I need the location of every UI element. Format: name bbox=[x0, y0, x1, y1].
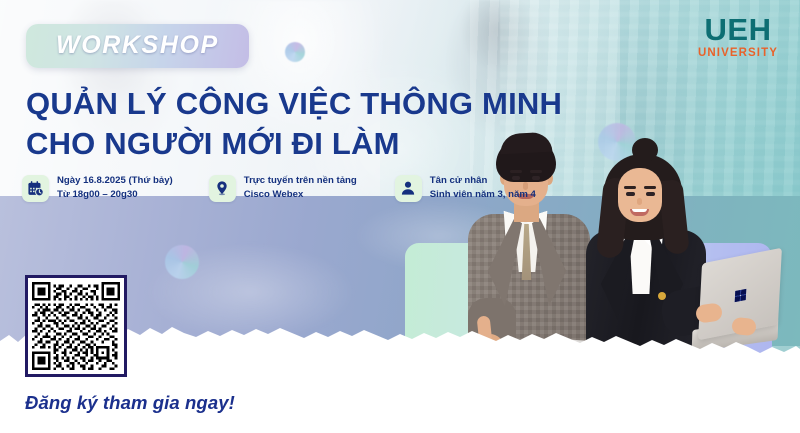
logo-sub-text: UNIVERSITY bbox=[698, 48, 778, 60]
register-cta-text[interactable]: Đăng ký tham gia ngay! bbox=[25, 392, 235, 414]
info-platform-line-2: Cisco Webex bbox=[244, 188, 357, 202]
location-pin-icon bbox=[209, 175, 236, 202]
ueh-logo: UEH UNIVERSITY bbox=[698, 14, 778, 60]
info-item-audience-text: Tân cử nhân Sinh viên năm 3, năm 4 bbox=[430, 174, 536, 203]
headline-line-2: CHO NGƯỜI MỚI ĐI LÀM bbox=[26, 124, 562, 164]
info-item-date: Ngày 16.8.2025 (Thứ bảy) Từ 18g00 – 20g3… bbox=[22, 174, 173, 203]
decorative-sphere-icon bbox=[285, 42, 305, 62]
info-item-audience: Tân cử nhân Sinh viên năm 3, năm 4 bbox=[395, 174, 536, 203]
person-icon bbox=[395, 175, 422, 202]
decorative-sphere-icon bbox=[165, 245, 199, 279]
info-audience-line-1: Tân cử nhân bbox=[430, 174, 536, 188]
workshop-banner: UEH UNIVERSITY WORKSHOP QUẢN LÝ CÔNG VIỆ… bbox=[0, 0, 800, 433]
info-audience-line-2: Sinh viên năm 3, năm 4 bbox=[430, 188, 536, 202]
info-platform-line-1: Trực tuyến trên nền tảng bbox=[244, 174, 357, 188]
info-date-line-2: Từ 18g00 – 20g30 bbox=[57, 188, 173, 202]
calendar-clock-icon bbox=[22, 175, 49, 202]
headline-line-1: QUẢN LÝ CÔNG VIỆC THÔNG MINH bbox=[26, 84, 562, 124]
event-info-row: Ngày 16.8.2025 (Thứ bảy) Từ 18g00 – 20g3… bbox=[22, 174, 536, 203]
logo-main-text: UEH bbox=[698, 14, 778, 45]
info-item-date-text: Ngày 16.8.2025 (Thứ bảy) Từ 18g00 – 20g3… bbox=[57, 174, 173, 203]
workshop-badge: WORKSHOP bbox=[26, 24, 249, 68]
page-title: QUẢN LÝ CÔNG VIỆC THÔNG MINH CHO NGƯỜI M… bbox=[26, 84, 562, 163]
info-item-platform-text: Trực tuyến trên nền tảng Cisco Webex bbox=[244, 174, 357, 203]
workshop-badge-label: WORKSHOP bbox=[56, 31, 219, 60]
qr-code[interactable] bbox=[25, 275, 127, 377]
info-date-line-1: Ngày 16.8.2025 (Thứ bảy) bbox=[57, 174, 173, 188]
info-item-platform: Trực tuyến trên nền tảng Cisco Webex bbox=[209, 174, 357, 203]
